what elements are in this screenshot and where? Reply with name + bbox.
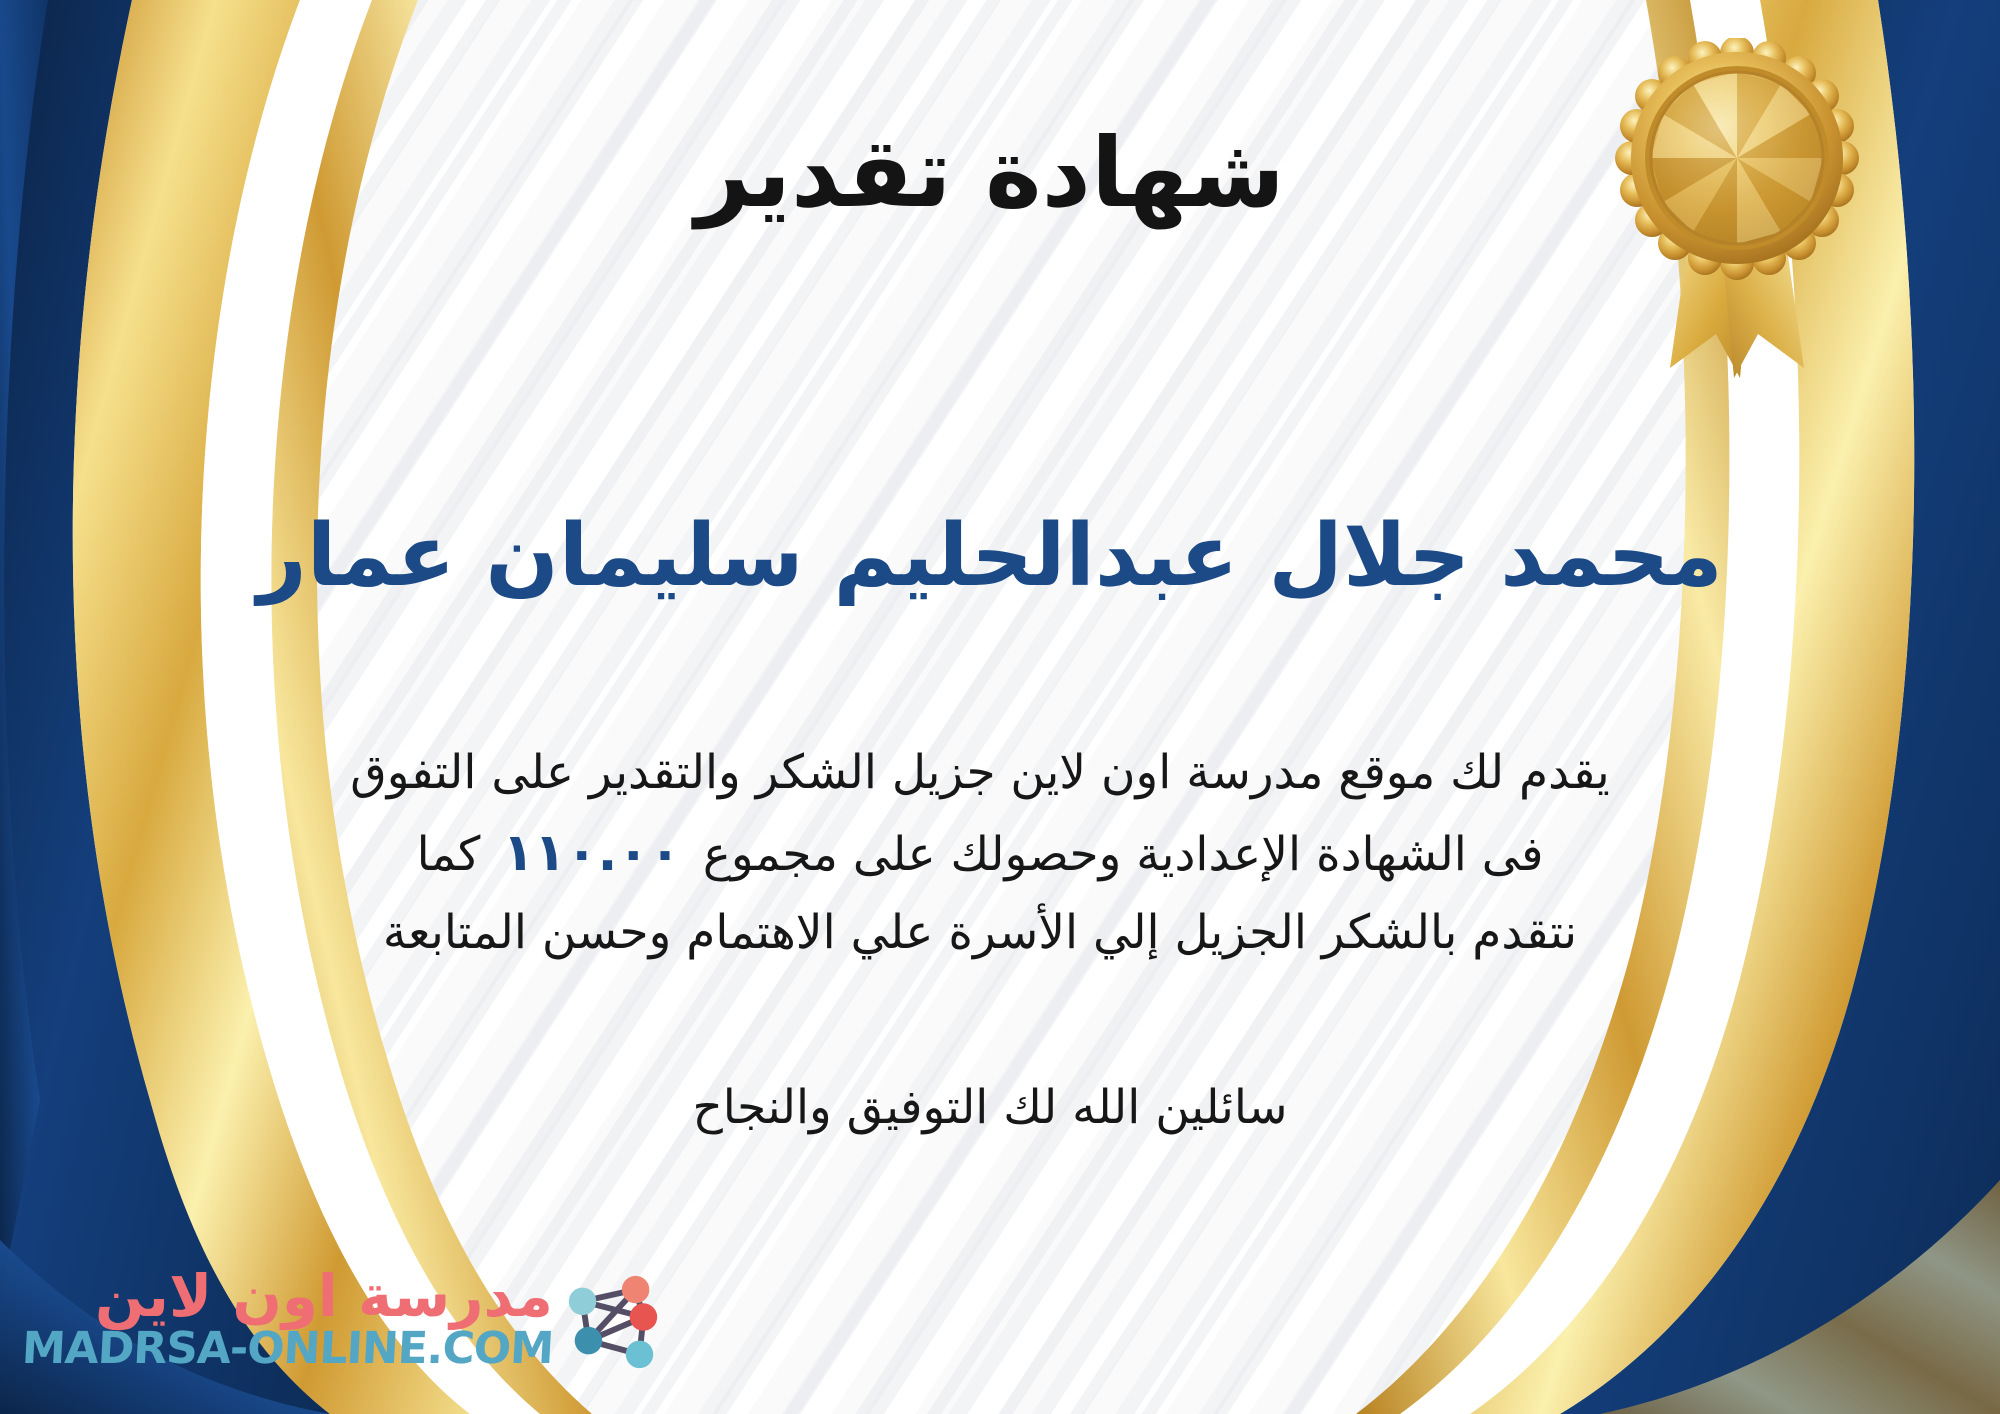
logo-text-group: مدرسة اون لاين MADRSA-ONLINE.COM [22,1267,553,1372]
logo-arabic-name: مدرسة اون لاين [95,1267,553,1326]
body-line-2: فى الشهادة الإعدادية وحصولك على مجموع١١٠… [80,811,1880,895]
body-line-2-before: فى الشهادة الإعدادية وحصولك على مجموع [703,827,1544,882]
gold-medal-rosette-icon [1612,38,1862,398]
page-title: شهادة تقدير [170,118,1810,228]
logo-website-url: MADRSA-ONLINE.COM [21,1326,554,1372]
site-logo[interactable]: مدرسة اون لاين MADRSA-ONLINE.COM [22,1250,492,1390]
body-line-3: نتقدم بالشكر الجزيل إلي الأسرة علي الاهت… [80,895,1880,971]
body-line-2-after: كما [417,827,481,882]
recipient-name: محمد جلال عبدالحليم سليمان عمار [170,505,1810,608]
grade-value: ١١٠.٠٠ [480,823,702,883]
certificate-canvas: شهادة تقدير محمد جلال عبدالحليم سليمان ع… [0,0,2000,1414]
body-line-1: يقدم لك موقع مدرسة اون لاين جزيل الشكر و… [80,735,1880,811]
network-nodes-icon [559,1266,667,1374]
certificate-body: يقدم لك موقع مدرسة اون لاين جزيل الشكر و… [80,735,1880,971]
certificate-content: شهادة تقدير محمد جلال عبدالحليم سليمان ع… [170,0,1810,1414]
closing-line: سائلين الله لك التوفيق والنجاح [170,1080,1810,1135]
